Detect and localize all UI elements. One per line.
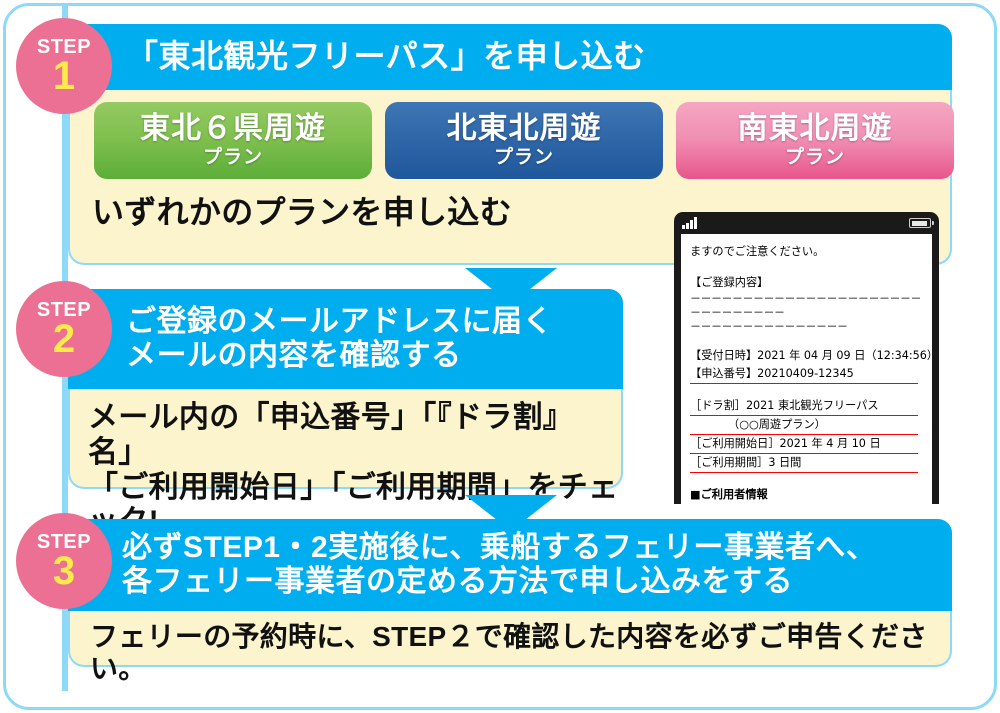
step-2-badge: STEP 2 <box>16 281 112 377</box>
step-3-body-text: フェリーの予約時に、STEP２で確認した内容を必ずご申告ください。 <box>90 621 950 686</box>
step-2-body-line1: メール内の「申込番号」「『ドラ割』名」 <box>88 401 573 469</box>
step-block-2: ご登録のメールアドレスに届く メールの内容を確認する メール内の「申込番号」「『… <box>68 289 623 489</box>
plan-title: 南東北周遊 <box>738 114 893 144</box>
mail-start-date: ［ご利用開始日］2021 年 4 月 10 日 <box>690 435 918 454</box>
step-2-header-text: ご登録のメールアドレスに届く メールの内容を確認する <box>68 305 553 372</box>
mail-rule-1: －－－－－－－－－－－－－－－－－－－－－－－－－－－－－－－ <box>690 292 924 320</box>
mail-spacer <box>690 473 924 486</box>
plan-tohoku-6ken-button[interactable]: 東北６県周遊 プラン <box>94 102 372 179</box>
phone-email-screen[interactable]: ますのでご注意ください。 【ご登録内容】 －－－－－－－－－－－－－－－－－－－… <box>681 234 932 504</box>
step-3-header: 必ずSTEP1・2実施後に、乗船するフェリー事業者へ、 各フェリー事業者の定める… <box>68 519 952 611</box>
step-1-body-text: いずれかのプランを申し込む <box>92 194 512 231</box>
plan-title: 東北６県周遊 <box>140 114 326 144</box>
mail-spacer <box>690 261 924 274</box>
mail-reception-datetime: 【受付日時】2021 年 04 月 09 日（12:34:56） <box>690 347 924 365</box>
signal-bars-icon <box>682 217 697 229</box>
mail-spacer <box>690 384 924 397</box>
mail-application-number: 【申込番号】20210409-12345 <box>690 365 918 384</box>
step-badge-number: 1 <box>53 58 75 95</box>
plan-subtitle: プラン <box>494 148 554 167</box>
arrow-step1-to-step2 <box>465 268 557 304</box>
arrow-step2-to-step3 <box>465 495 557 531</box>
step-3-header-text: 必ずSTEP1・2実施後に、乗船するフェリー事業者へ、 各フェリー事業者の定める… <box>68 531 876 598</box>
step-block-3: 必ずSTEP1・2実施後に、乗船するフェリー事業者へ、 各フェリー事業者の定める… <box>68 519 952 667</box>
plan-title: 北東北周遊 <box>447 114 602 144</box>
plan-button-row: 東北６県周遊 プラン 北東北周遊 プラン 南東北周遊 プラン <box>94 102 954 179</box>
battery-icon <box>909 218 931 228</box>
step-3-body: フェリーの予約時に、STEP２で確認した内容を必ずご申告ください。 <box>68 611 952 667</box>
phone-mockup: ますのでご注意ください。 【ご登録内容】 －－－－－－－－－－－－－－－－－－－… <box>674 212 939 504</box>
mail-user-heading: ■ご利用者情報 <box>690 486 924 504</box>
infographic-card: 「東北観光フリーパス」を申し込む 東北６県周遊 プラン 北東北周遊 プラン 南東… <box>3 3 997 710</box>
mail-spacer <box>690 334 924 347</box>
step-3-header-line2: 各フェリー事業者の定める方法で申し込みをする <box>122 565 793 598</box>
step-2-body: メール内の「申込番号」「『ドラ割』名」 「ご利用開始日」「ご利用期間」をチェック… <box>68 389 623 489</box>
plan-subtitle: プラン <box>785 148 845 167</box>
mail-notice-line: ますのでご注意ください。 <box>690 243 924 261</box>
step-2-header-line1: ご登録のメールアドレスに届く <box>126 305 553 338</box>
step-2-header: ご登録のメールアドレスに届く メールの内容を確認する <box>68 289 623 389</box>
step-1-header-text: 「東北観光フリーパス」を申し込む <box>68 39 646 75</box>
step-3-badge: STEP 3 <box>16 513 112 609</box>
mail-period: ［ご利用期間］3 日間 <box>690 454 918 473</box>
step-1-header: 「東北観光フリーパス」を申し込む <box>68 24 952 90</box>
mail-rule-2: －－－－－－－－－－－－－－－ <box>690 320 924 334</box>
step-badge-number: 3 <box>53 553 75 590</box>
mail-pass-name: ［ドラ割］2021 東北観光フリーパス <box>690 397 918 416</box>
plan-subtitle: プラン <box>203 148 263 167</box>
step-badge-number: 2 <box>53 321 75 358</box>
plan-kita-tohoku-button[interactable]: 北東北周遊 プラン <box>385 102 663 179</box>
step-1-badge: STEP 1 <box>16 18 112 114</box>
step-2-header-line2: メールの内容を確認する <box>126 339 462 372</box>
step-3-header-line1: 必ずSTEP1・2実施後に、乗船するフェリー事業者へ、 <box>122 531 876 564</box>
phone-status-bar <box>674 212 939 234</box>
mail-pass-plan: （○○周遊プラン） <box>690 416 918 435</box>
mail-heading: 【ご登録内容】 <box>690 274 924 292</box>
plan-minami-tohoku-button[interactable]: 南東北周遊 プラン <box>676 102 954 179</box>
